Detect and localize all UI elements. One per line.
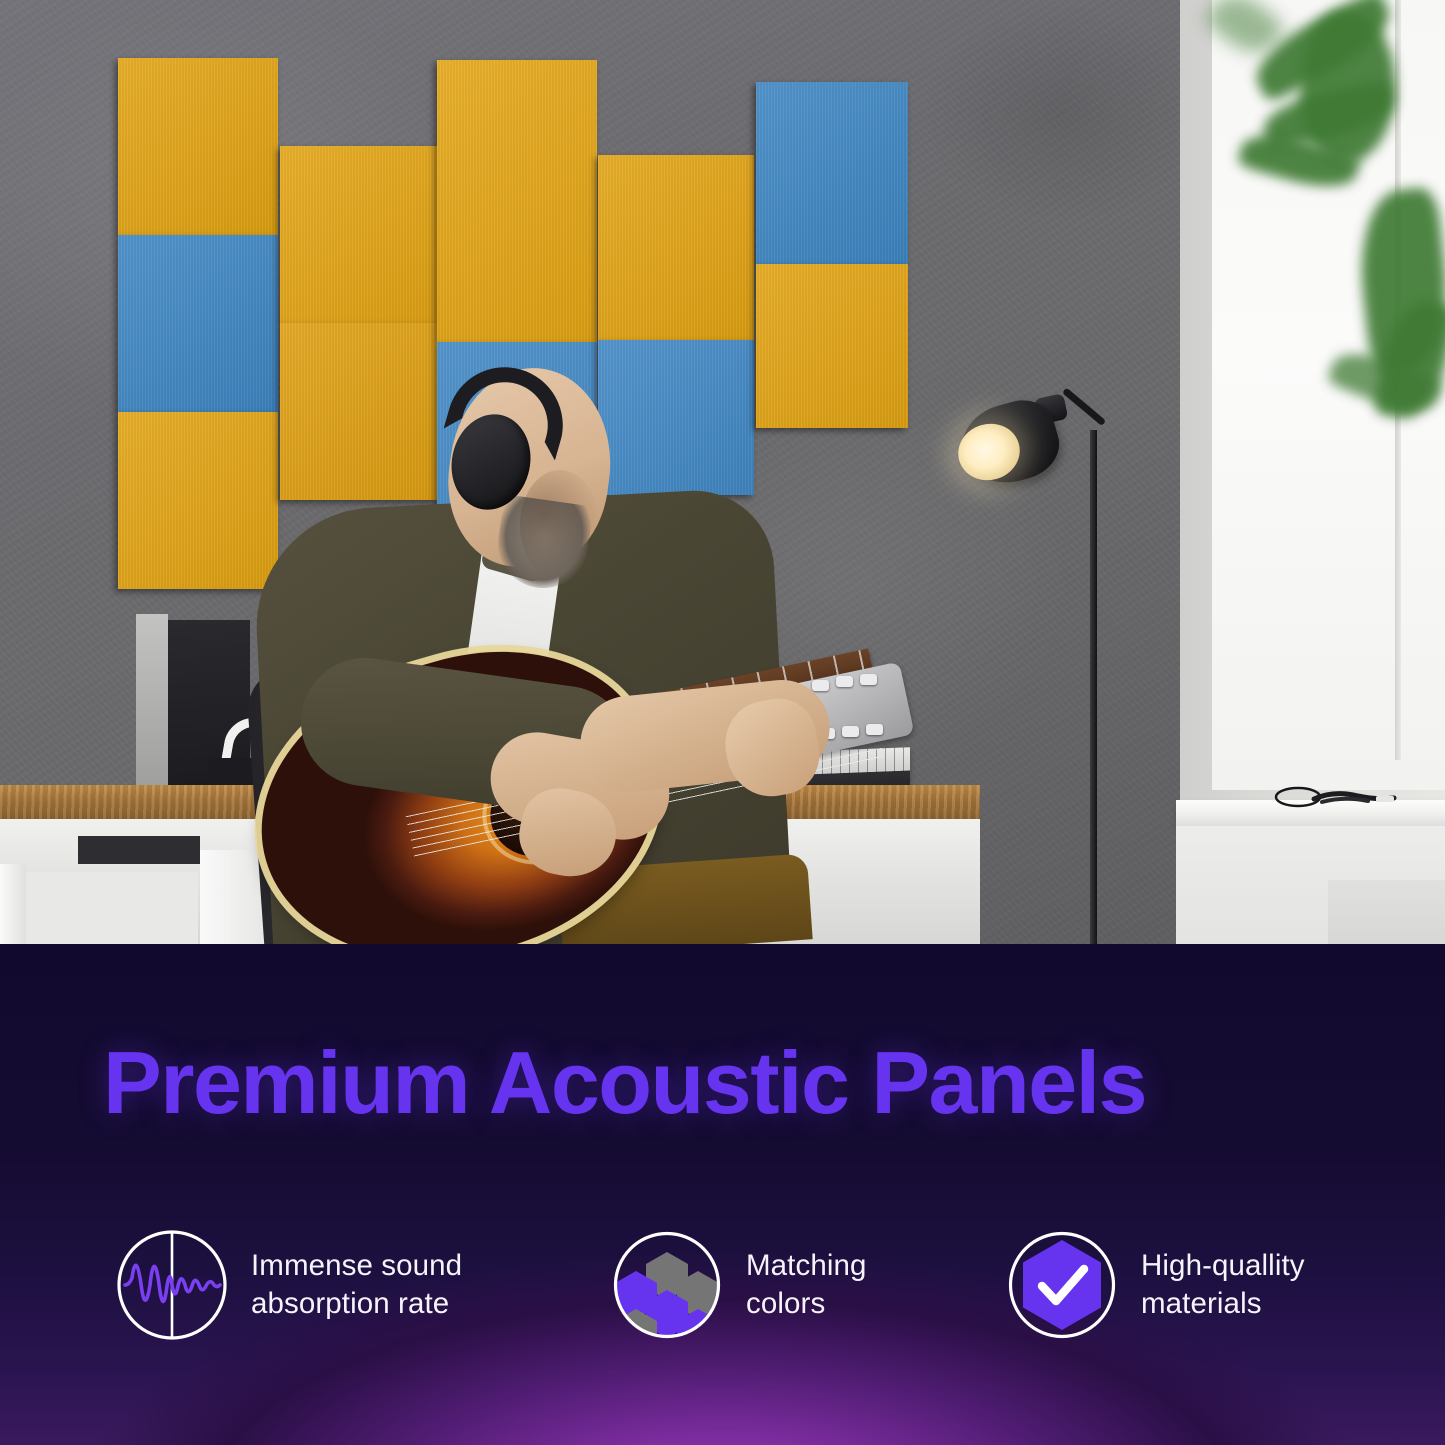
feature-item-sound-absorption: Immense sound absorption rate bbox=[115, 1228, 610, 1342]
acoustic-panel-yellow bbox=[598, 155, 754, 340]
hero-photo bbox=[0, 0, 1445, 944]
feature-label: High-quallity materials bbox=[1141, 1247, 1305, 1324]
feature-label: Immense sound absorption rate bbox=[251, 1247, 462, 1324]
acoustic-panel-yellow bbox=[280, 323, 438, 500]
acoustic-panel-blue bbox=[598, 340, 754, 495]
floor-lamp-pole bbox=[1090, 430, 1097, 944]
acoustic-panel-yellow bbox=[280, 146, 438, 323]
windowsill-cabinet bbox=[1328, 880, 1445, 944]
desk-leg bbox=[0, 864, 26, 944]
acoustic-panel-yellow bbox=[118, 412, 278, 589]
guitar-tuner bbox=[842, 726, 859, 737]
feature-list: Immense sound absorption rate Matching c… bbox=[115, 1228, 1435, 1368]
hexagon-cluster-circle-icon bbox=[610, 1228, 724, 1342]
acoustic-panel-blue bbox=[756, 82, 908, 264]
guitar-tuner bbox=[860, 674, 877, 685]
guitar-tuner bbox=[836, 676, 853, 687]
promo-panel bbox=[0, 944, 1445, 1445]
page-title: Premium Acoustic Panels bbox=[103, 1039, 1393, 1127]
guitar-tuner bbox=[866, 724, 883, 735]
acoustic-panel-blue bbox=[118, 235, 278, 412]
cables-on-sill bbox=[1272, 786, 1402, 808]
acoustic-panel-yellow bbox=[118, 58, 278, 235]
desk-opening bbox=[26, 872, 198, 944]
sound-wave-circle-icon bbox=[115, 1228, 229, 1342]
hexagon-check-circle-icon bbox=[1005, 1228, 1119, 1342]
acoustic-panel-yellow bbox=[437, 60, 597, 342]
desk-gap-shadow bbox=[78, 836, 200, 864]
feature-label: Matching colors bbox=[746, 1247, 867, 1324]
face-shading bbox=[520, 470, 600, 580]
feature-item-high-quality: High-quallity materials bbox=[1005, 1228, 1405, 1342]
feature-item-matching-colors: Matching colors bbox=[610, 1228, 1005, 1342]
guitar-tuner bbox=[812, 680, 829, 691]
product-banner: Premium Acoustic Panels Immense sound ab… bbox=[0, 0, 1445, 1445]
acoustic-panel-yellow bbox=[756, 264, 908, 428]
